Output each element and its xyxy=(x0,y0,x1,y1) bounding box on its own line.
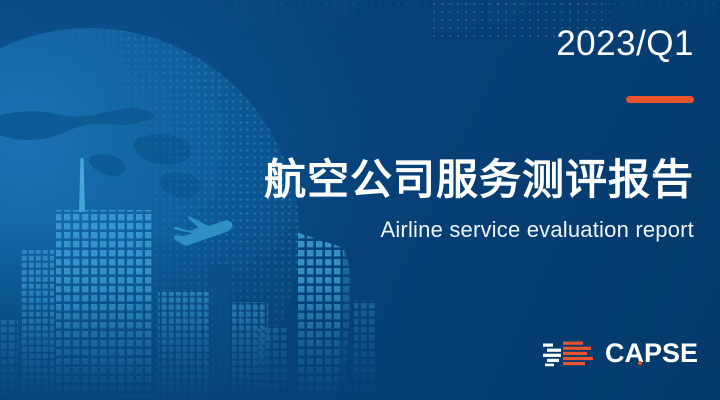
report-cover-poster: 2023/Q1 航空公司服务测评报告 Airline service evalu… xyxy=(0,0,720,400)
page-title: 航空公司服务测评报告 xyxy=(264,157,694,202)
airplane-icon xyxy=(168,216,234,258)
capse-logo-mark xyxy=(543,341,597,367)
capse-logo: CAPSE xyxy=(543,340,698,367)
report-period-label: 2023/Q1 xyxy=(556,26,694,61)
orange-accent-bar xyxy=(626,96,694,103)
page-subtitle: Airline service evaluation report xyxy=(380,217,694,243)
brand-name: CAPSE xyxy=(605,340,698,367)
brand-accent-dot xyxy=(638,361,642,365)
brand-name-text: CAPSE xyxy=(605,338,698,368)
